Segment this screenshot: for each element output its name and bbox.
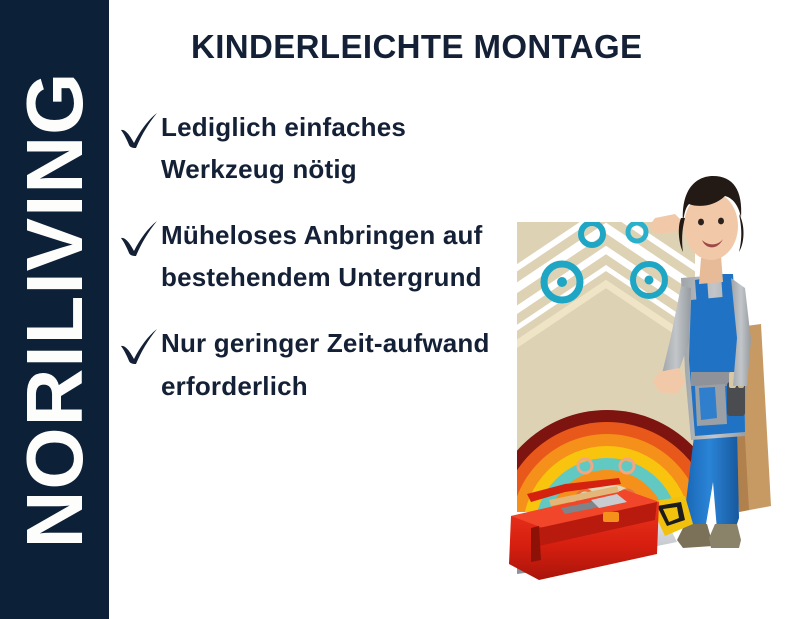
list-item: Nur geringer Zeit-aufwand erforderlich <box>117 322 537 406</box>
eye <box>718 218 724 225</box>
page-title: KINDERLEICHTE MONTAGE <box>191 28 642 66</box>
list-item: Lediglich einfaches Werkzeug nötig <box>117 106 537 190</box>
checkmark-icon <box>117 326 161 366</box>
brand-wordmark: NORILIVING <box>15 71 95 548</box>
promo-banner: NORILIVING KINDERLEICHTE MONTAGE Ledigli… <box>0 0 799 619</box>
checkmark-icon <box>117 110 161 150</box>
list-item-label: Nur geringer Zeit-aufwand erforderlich <box>161 322 537 406</box>
brand-bar: NORILIVING <box>0 0 109 619</box>
photo-artwork <box>499 110 799 610</box>
hair <box>739 214 744 252</box>
eye <box>698 219 704 226</box>
content-column: KINDERLEICHTE MONTAGE Lediglich einfache… <box>109 0 799 619</box>
checkmark-icon <box>117 218 161 258</box>
list-item: Müheloses Anbringen auf bestehendem Unte… <box>117 214 537 298</box>
list-item-label: Müheloses Anbringen auf bestehendem Unte… <box>161 214 537 298</box>
list-item-label: Lediglich einfaches Werkzeug nötig <box>161 106 537 190</box>
neck <box>699 256 723 284</box>
shoe <box>709 524 741 548</box>
benefit-list: Lediglich einfaches Werkzeug nötig Mühel… <box>117 106 537 431</box>
tool-orange <box>603 512 619 522</box>
product-photo <box>499 110 799 610</box>
